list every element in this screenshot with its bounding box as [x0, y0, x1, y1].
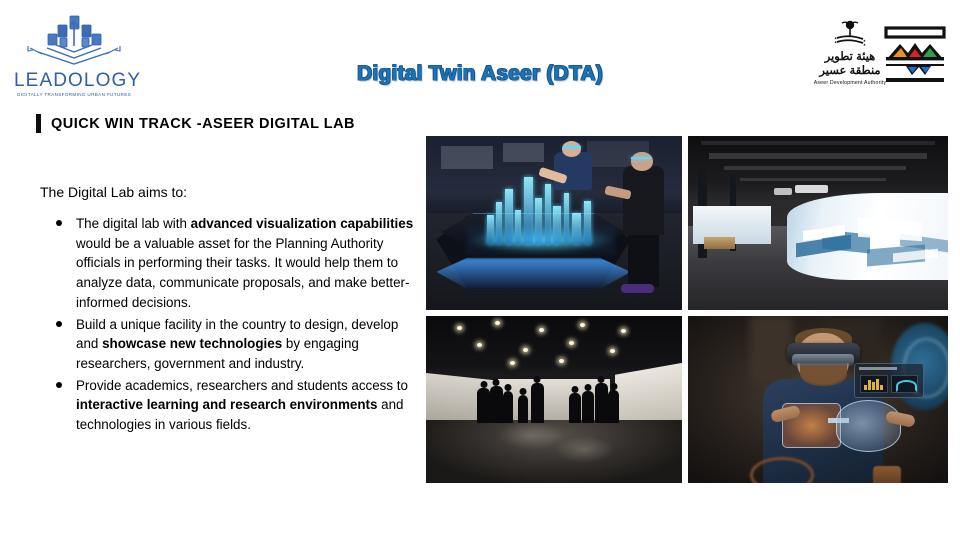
photo-ar-headset-industrial-worker [688, 316, 948, 483]
list-item-text: Build a unique facility in the country t… [76, 317, 398, 371]
list-item: Provide academics, researchers and stude… [40, 376, 418, 435]
bullet-dot-icon [56, 220, 62, 226]
photo-curved-panoramic-projection-room [688, 136, 948, 310]
section-heading-label: QUICK WIN TRACK -ASEER DIGITAL LAB [51, 116, 355, 132]
aseer-development-authority-logo: هيئة تطوير منطقة عسير Aseer Development … [812, 20, 888, 94]
bullet-dot-icon [56, 321, 62, 327]
ada-english-name: Aseer Development Authority [812, 80, 888, 86]
leadology-logo: LEADOLOGY DIGITALLY TRANSFORMING URBAN F… [14, 12, 134, 94]
heading-accent-bar [36, 114, 41, 133]
bullet-dot-icon [56, 382, 62, 388]
palm-tree-and-swords-icon [833, 20, 867, 50]
section-heading: QUICK WIN TRACK -ASEER DIGITAL LAB [36, 114, 355, 133]
body-copy: The Digital Lab aims to: The digital lab… [40, 184, 418, 437]
intro-line: The Digital Lab aims to: [40, 184, 418, 200]
ada-arabic-line-1: هيئة تطوير [812, 51, 888, 64]
gallery-grid [426, 136, 948, 483]
aseer-mountains-mark-icon [884, 26, 946, 84]
leadology-building-arrow-icon [14, 12, 134, 70]
ada-arabic-line-2: منطقة عسير [812, 65, 888, 78]
photo-immersive-cave-visualization-room [426, 316, 682, 483]
photo-holographic-city-model-table [426, 136, 682, 310]
bullet-list: The digital lab with advanced visualizat… [40, 214, 418, 435]
list-item-text: The digital lab with advanced visualizat… [76, 216, 413, 310]
page-title: Digital Twin Aseer (DTA) [240, 62, 720, 86]
list-item: Build a unique facility in the country t… [40, 315, 418, 374]
leadology-tagline: DIGITALLY TRANSFORMING URBAN FUTURES [14, 92, 134, 97]
list-item: The digital lab with advanced visualizat… [40, 214, 418, 313]
leadology-wordmark: LEADOLOGY [14, 71, 134, 90]
list-item-text: Provide academics, researchers and stude… [76, 378, 408, 432]
